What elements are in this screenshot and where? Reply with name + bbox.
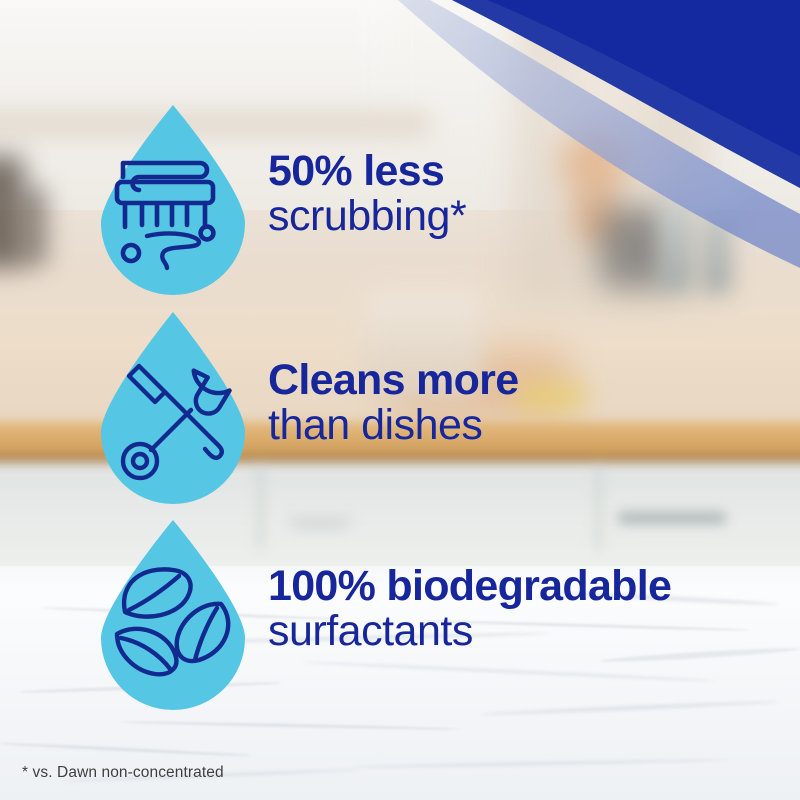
water-drop-shape bbox=[95, 103, 251, 285]
water-drop-shape bbox=[95, 518, 251, 700]
feature-text: 50% less scrubbing* bbox=[268, 149, 466, 238]
feature-icon-badge bbox=[95, 310, 251, 495]
feature-headline: 100% biodegradable bbox=[268, 564, 671, 609]
feature-icon-badge bbox=[95, 518, 251, 700]
feature-row-cleans-more: Cleans more than dishes bbox=[0, 310, 800, 495]
feature-subline: scrubbing* bbox=[268, 194, 466, 239]
feature-text: 100% biodegradable surfactants bbox=[268, 564, 671, 653]
feature-row-scrubbing: 50% less scrubbing* bbox=[0, 103, 800, 285]
feature-row-biodegradable: 100% biodegradable surfactants bbox=[0, 518, 800, 700]
feature-headline: Cleans more bbox=[268, 358, 518, 403]
feature-list: 50% less scrubbing* bbox=[0, 0, 800, 800]
feature-icon-badge bbox=[95, 103, 251, 285]
feature-subline: than dishes bbox=[268, 403, 518, 448]
feature-text: Cleans more than dishes bbox=[268, 358, 518, 447]
water-drop-shape bbox=[95, 310, 251, 495]
product-feature-banner: 50% less scrubbing* bbox=[0, 0, 800, 800]
feature-subline: surfactants bbox=[268, 609, 671, 654]
feature-headline: 50% less bbox=[268, 149, 466, 194]
footnote-disclaimer: * vs. Dawn non-concentrated bbox=[22, 764, 224, 782]
